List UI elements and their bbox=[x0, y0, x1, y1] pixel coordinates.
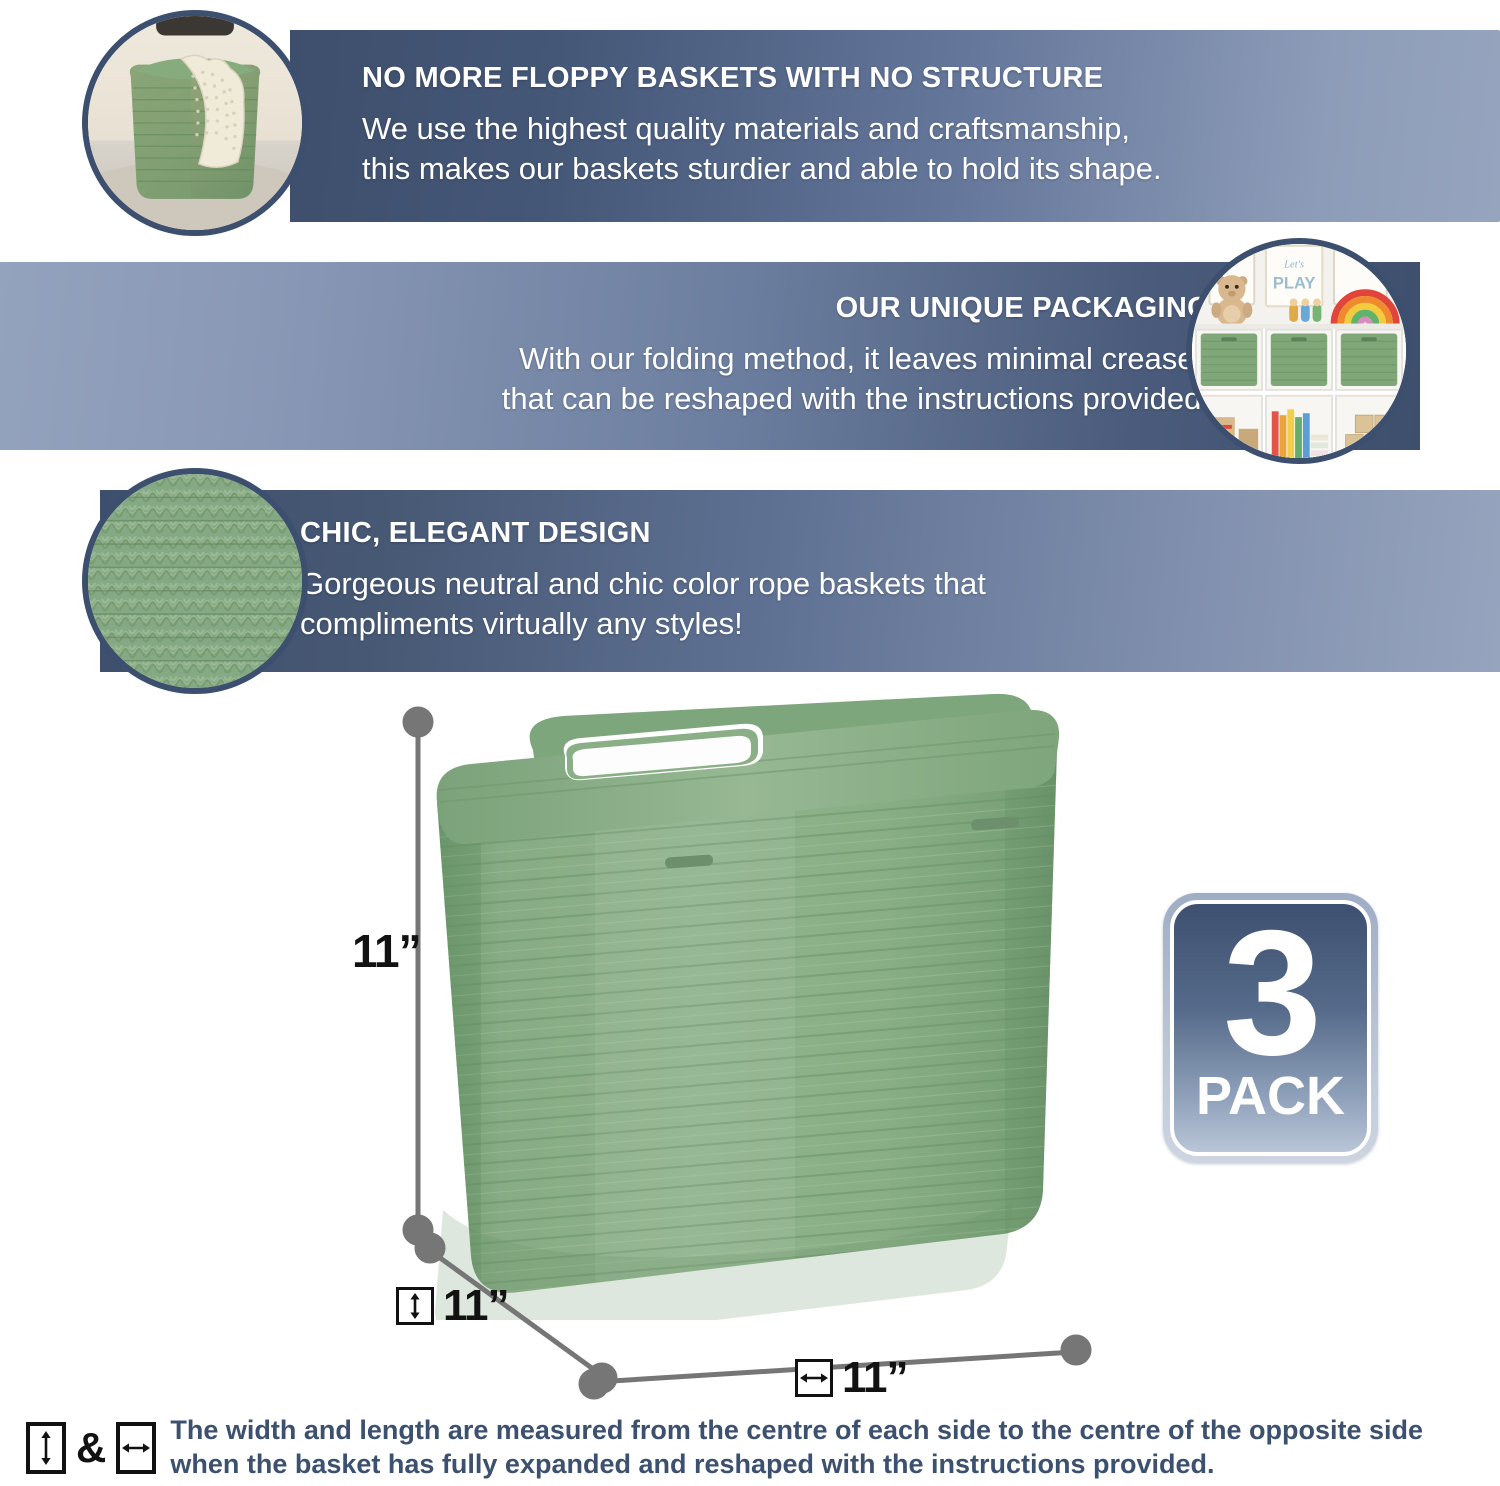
feature-photo-structure bbox=[82, 10, 308, 236]
svg-text:PLAY: PLAY bbox=[1273, 274, 1316, 293]
feature-title-structure: NO MORE FLOPPY BASKETS WITH NO STRUCTURE bbox=[362, 63, 1476, 95]
feature-body-line: With our folding method, it leaves minim… bbox=[502, 339, 1210, 379]
pack-badge-inner: 3 PACK bbox=[1170, 900, 1371, 1156]
feature-body-packaging: With our folding method, it leaves minim… bbox=[502, 339, 1210, 418]
conjunction-ampersand: & bbox=[76, 1427, 106, 1469]
product-basket-image bbox=[415, 690, 1085, 1320]
feature-body-structure: We use the highest quality materials and… bbox=[362, 109, 1476, 188]
feature-banner-structure: NO MORE FLOPPY BASKETS WITH NO STRUCTURE… bbox=[290, 30, 1500, 222]
feature-body-design: Gorgeous neutral and chic color rope bas… bbox=[300, 564, 1476, 643]
dimension-label-width: 11” bbox=[795, 1356, 908, 1400]
dimension-depth-value: 11” bbox=[443, 1284, 509, 1328]
feature-body-line: Gorgeous neutral and chic color rope bas… bbox=[300, 564, 1476, 604]
feature-banner-design: CHIC, ELEGANT DESIGN Gorgeous neutral an… bbox=[100, 490, 1500, 672]
feature-body-line: compliments virtually any styles! bbox=[300, 604, 1476, 644]
nursery-shelf-illustration: Let's PLAY bbox=[1192, 244, 1406, 458]
feature-title-packaging: OUR UNIQUE PACKAGING bbox=[836, 293, 1210, 325]
feature-body-line: this makes our baskets sturdier and able… bbox=[362, 149, 1476, 189]
green-rope-cube-basket bbox=[415, 690, 1085, 1320]
horizontal-arrow-icon bbox=[795, 1359, 833, 1397]
dimension-label-depth: 11” bbox=[396, 1284, 509, 1328]
feature-photo-packaging: Let's PLAY bbox=[1186, 238, 1412, 464]
disclaimer-line: The width and length are measured from t… bbox=[170, 1414, 1423, 1448]
feature-body-line: We use the highest quality materials and… bbox=[362, 109, 1476, 149]
measurement-disclaimer: & The width and length are measured from… bbox=[26, 1414, 1476, 1482]
vertical-arrow-icon bbox=[396, 1287, 434, 1325]
rope-texture-illustration bbox=[88, 474, 302, 688]
feature-body-line: that can be reshaped with the instructio… bbox=[502, 379, 1210, 419]
pack-count-badge: 3 PACK bbox=[1163, 893, 1378, 1163]
measurement-disclaimer-text: The width and length are measured from t… bbox=[170, 1414, 1423, 1482]
disclaimer-line: when the basket has fully expanded and r… bbox=[170, 1448, 1423, 1482]
basket-with-towel-illustration bbox=[88, 16, 302, 230]
feature-title-design: CHIC, ELEGANT DESIGN bbox=[300, 518, 1476, 550]
measurement-icon-group: & bbox=[26, 1422, 156, 1474]
vertical-arrow-icon bbox=[26, 1422, 66, 1474]
horizontal-arrow-icon bbox=[116, 1422, 156, 1474]
pack-count-number: 3 bbox=[1223, 908, 1318, 1077]
svg-text:Let's: Let's bbox=[1283, 258, 1304, 270]
pack-count-word: PACK bbox=[1196, 1069, 1345, 1123]
dimension-height-value: 11” bbox=[352, 928, 421, 974]
dimension-width-value: 11” bbox=[842, 1356, 908, 1400]
feature-photo-design bbox=[82, 468, 308, 694]
dimension-label-height: 11” bbox=[352, 928, 421, 974]
